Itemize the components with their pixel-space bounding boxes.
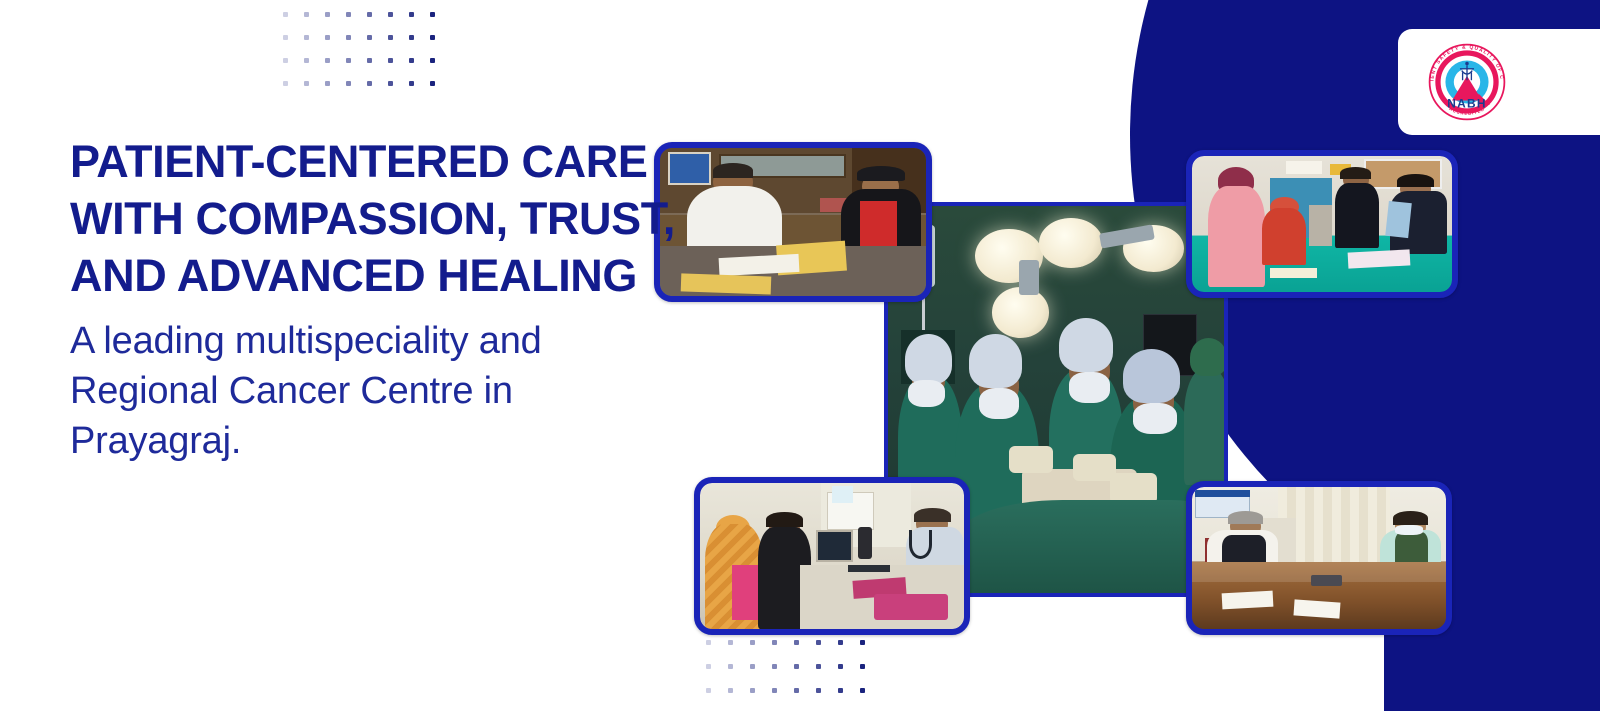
- decor-dot: [430, 12, 435, 17]
- decor-dot: [750, 688, 755, 693]
- photo-card-consult-couple: [694, 477, 970, 635]
- decor-dot: [772, 640, 777, 645]
- decor-dot: [304, 35, 309, 40]
- consult-couple-illustration: [700, 483, 964, 629]
- decor-dot: [304, 58, 309, 63]
- decor-dot: [772, 688, 777, 693]
- decor-dot: [706, 688, 711, 693]
- decor-dot: [304, 81, 309, 86]
- decor-dot: [706, 640, 711, 645]
- decor-dot: [860, 688, 865, 693]
- decor-dot: [794, 688, 799, 693]
- decor-dot: [430, 81, 435, 86]
- decor-dot: [728, 688, 733, 693]
- decor-dot: [367, 12, 372, 17]
- decor-dot: [794, 640, 799, 645]
- decor-dot: [388, 12, 393, 17]
- decor-dot: [816, 688, 821, 693]
- decor-dot: [367, 35, 372, 40]
- decor-dot: [304, 12, 309, 17]
- photo-card-doctor-patient: [1186, 481, 1452, 635]
- decor-dot: [838, 640, 843, 645]
- page-title: PATIENT-CENTERED CARE WITH COMPASSION, T…: [70, 133, 680, 304]
- decor-dot: [838, 664, 843, 669]
- decor-dot: [409, 58, 414, 63]
- decor-dot: [728, 640, 733, 645]
- dot-grid-top: [283, 12, 451, 104]
- decor-dot: [860, 640, 865, 645]
- decor-dot: [283, 12, 288, 17]
- doctor-patient-illustration: [1192, 487, 1446, 629]
- decor-dot: [816, 640, 821, 645]
- decor-dot: [860, 664, 865, 669]
- decor-dot: [346, 81, 351, 86]
- decor-dot: [346, 35, 351, 40]
- opd-desk-illustration: [1192, 156, 1452, 292]
- decor-dot: [706, 664, 711, 669]
- decor-dot: [750, 640, 755, 645]
- decor-dot: [367, 58, 372, 63]
- doctor-office-illustration: [660, 148, 926, 296]
- decor-dot: [728, 664, 733, 669]
- photo-card-doctor-office: [654, 142, 932, 302]
- decor-dot: [283, 35, 288, 40]
- nabh-accreditation-icon: PATIENT SAFETY & QUALITY OF CARE NABH AC…: [1423, 38, 1511, 126]
- decor-dot: [409, 81, 414, 86]
- photo-card-opd-desk: [1186, 150, 1458, 298]
- decor-dot: [409, 35, 414, 40]
- decor-dot: [325, 58, 330, 63]
- decor-dot: [367, 81, 372, 86]
- decor-dot: [325, 35, 330, 40]
- decor-dot: [388, 58, 393, 63]
- decor-dot: [430, 58, 435, 63]
- page-subtitle: A leading multispeciality and Regional C…: [70, 316, 680, 466]
- decor-dot: [283, 58, 288, 63]
- decor-dot: [388, 35, 393, 40]
- decor-dot: [325, 81, 330, 86]
- decor-dot: [816, 664, 821, 669]
- decor-dot: [794, 664, 799, 669]
- decor-dot: [325, 12, 330, 17]
- decor-dot: [346, 12, 351, 17]
- decor-dot: [750, 664, 755, 669]
- decor-dot: [346, 58, 351, 63]
- decor-dot: [283, 81, 288, 86]
- decor-dot: [409, 12, 414, 17]
- decor-dot: [388, 81, 393, 86]
- hero-banner: PATIENT-CENTERED CARE WITH COMPASSION, T…: [0, 0, 1600, 711]
- decor-dot: [838, 688, 843, 693]
- hero-copy: PATIENT-CENTERED CARE WITH COMPASSION, T…: [70, 133, 680, 466]
- dot-grid-bottom: [706, 640, 882, 711]
- decor-dot: [772, 664, 777, 669]
- decor-dot: [430, 35, 435, 40]
